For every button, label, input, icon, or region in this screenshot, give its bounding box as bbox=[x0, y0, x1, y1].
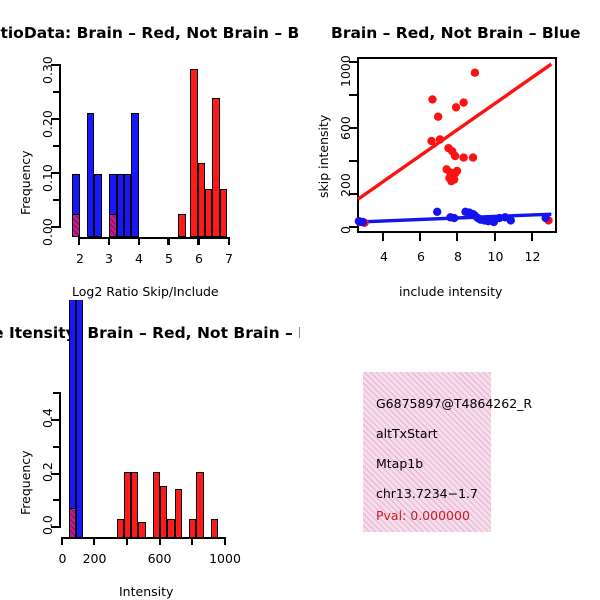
histogram-bar bbox=[138, 522, 145, 538]
scatter-xtick-mark-0 bbox=[382, 233, 384, 241]
scatter-point bbox=[459, 153, 467, 161]
info-locus: chr13.7234−1.7 bbox=[376, 486, 478, 501]
scatter-ytick-mark-2 bbox=[349, 160, 357, 162]
scatter-point bbox=[428, 95, 436, 103]
ratio-xtick-mark-0 bbox=[78, 237, 80, 245]
gene-xtick-mark-1 bbox=[93, 537, 95, 545]
histogram-bar bbox=[167, 519, 174, 538]
scatter-x-axis-label: include intensity bbox=[399, 284, 502, 299]
ratio-xtick-mark-4 bbox=[197, 237, 199, 245]
ratio-xtick-3: 5 bbox=[164, 251, 174, 266]
scatter-point bbox=[459, 98, 467, 106]
histogram-bar bbox=[76, 300, 83, 538]
histogram-bar bbox=[124, 174, 131, 237]
ratio-xtick-0: 2 bbox=[75, 251, 85, 266]
scatter-ytick-mark-5 bbox=[349, 61, 357, 63]
ratio-x-axis-line bbox=[78, 237, 230, 239]
scatter-point bbox=[541, 214, 549, 222]
ratio-xtick-4: 6 bbox=[194, 251, 204, 266]
histogram-bar bbox=[211, 519, 218, 538]
histogram-bar bbox=[190, 69, 197, 237]
ratio-x-axis-label: Log2 Ratio Skip/Include bbox=[72, 284, 219, 299]
info-pval: Pval: 0.000000 bbox=[376, 508, 470, 523]
scatter-xtick-1: 6 bbox=[416, 249, 426, 264]
scatter-point bbox=[433, 208, 441, 216]
scatter-point bbox=[427, 137, 435, 145]
gene-xtick-mark-4 bbox=[191, 537, 193, 545]
histogram-bar bbox=[131, 472, 138, 538]
scatter-point bbox=[453, 167, 461, 175]
ratio-xtick-mark-5 bbox=[228, 237, 230, 245]
ratio-xtick-1: 3 bbox=[104, 251, 114, 266]
histogram-bar bbox=[87, 113, 94, 237]
gene-xtick-0: 0 bbox=[58, 551, 67, 566]
scatter-xtick-mark-1 bbox=[419, 233, 421, 241]
ratio-xtick-mark-3 bbox=[167, 237, 169, 245]
histogram-bar bbox=[131, 113, 138, 237]
histogram-bar bbox=[198, 163, 205, 237]
scatter-point bbox=[507, 216, 515, 224]
gene-xtick-mark-2 bbox=[126, 537, 128, 545]
histogram-bar bbox=[160, 486, 167, 538]
scatter-xtick-mark-3 bbox=[494, 233, 496, 241]
scatter-xtick-2: 8 bbox=[453, 249, 463, 264]
ratio-xtick-mark-1 bbox=[108, 237, 110, 245]
info-event-type: altTxStart bbox=[376, 426, 438, 441]
histogram-bar bbox=[189, 519, 196, 538]
scatter-point bbox=[451, 152, 459, 160]
gene-x-axis-label: Intensity bbox=[119, 584, 173, 599]
scatter-point bbox=[447, 177, 455, 185]
scatter-point bbox=[450, 214, 458, 222]
histogram-bar bbox=[69, 300, 76, 538]
histogram-bar bbox=[109, 214, 116, 237]
histogram-bar bbox=[117, 174, 124, 237]
histogram-bar bbox=[178, 214, 185, 237]
ratio-xtick-5: 7 bbox=[224, 251, 234, 266]
info-panel: G6875897@T4864262_R altTxStart Mtap1b ch… bbox=[363, 372, 491, 532]
histogram-bar bbox=[205, 189, 212, 237]
histogram-bar bbox=[196, 472, 203, 538]
histogram-bar bbox=[220, 189, 227, 237]
intensity-scatter-panel: Brain – Red, Not Brain – Blue skip inten… bbox=[300, 0, 600, 300]
scatter-ytick-5: 1000 bbox=[338, 55, 353, 87]
scatter-ytick-mark-4 bbox=[349, 94, 357, 96]
scatter-xtick-mark-4 bbox=[531, 233, 533, 241]
gene-xtick-mark-3 bbox=[159, 537, 161, 545]
gene-xtick-1: 200 bbox=[82, 551, 107, 566]
scatter-ytick-mark-0 bbox=[349, 226, 357, 228]
histogram-bar bbox=[94, 174, 101, 237]
scatter-xtick-4: 12 bbox=[524, 249, 541, 264]
histogram-bar bbox=[124, 472, 131, 538]
gene-xtick-3: 600 bbox=[147, 551, 172, 566]
scatter-xtick-mark-2 bbox=[456, 233, 458, 241]
scatter-point bbox=[471, 69, 479, 77]
ratio-bar-group bbox=[0, 0, 300, 300]
scatter-point bbox=[469, 153, 477, 161]
scatter-xtick-3: 10 bbox=[487, 249, 504, 264]
gene-xtick-mark-0 bbox=[61, 537, 63, 545]
ratio-histogram-panel: atioData: Brain – Red, Not Brain – Blu F… bbox=[0, 0, 300, 300]
scatter-plot-area bbox=[357, 57, 557, 233]
gene-xtick-5: 1000 bbox=[209, 551, 241, 566]
scatter-point bbox=[358, 218, 366, 226]
histogram-bar bbox=[117, 519, 124, 538]
scatter-ytick-mark-3 bbox=[349, 127, 357, 129]
histogram-bar bbox=[175, 489, 182, 538]
histogram-bar bbox=[153, 472, 160, 538]
info-gene-name: Mtap1b bbox=[376, 456, 423, 471]
scatter-title: Brain – Red, Not Brain – Blue bbox=[331, 24, 581, 42]
scatter-xtick-0: 4 bbox=[379, 249, 389, 264]
gene-x-axis-line bbox=[61, 537, 226, 539]
histogram-bar bbox=[69, 508, 76, 538]
scatter-point bbox=[436, 135, 444, 143]
gene-intensity-histogram-panel: ne Itensity: Brain – Red, Not Brain – B … bbox=[0, 300, 300, 600]
scatter-y-axis-label: skip intensity bbox=[316, 115, 331, 198]
info-event-id: G6875897@T4864262_R bbox=[376, 396, 532, 411]
ratio-xtick-2: 4 bbox=[134, 251, 144, 266]
histogram-bar bbox=[72, 214, 79, 237]
scatter-point bbox=[452, 103, 460, 111]
scatter-ytick-mark-1 bbox=[349, 193, 357, 195]
histogram-bar bbox=[212, 98, 219, 237]
ratio-xtick-mark-2 bbox=[138, 237, 140, 245]
scatter-point bbox=[434, 113, 442, 121]
gene-xtick-mark-5 bbox=[224, 537, 226, 545]
